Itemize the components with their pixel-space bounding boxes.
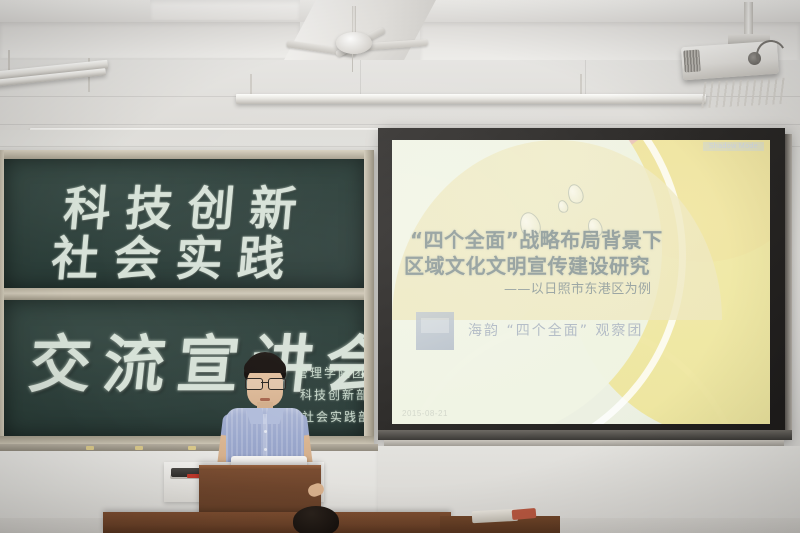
slide-subtitle: ——以日照市东港区为例: [504, 278, 651, 297]
glasses-lens-left: [245, 378, 263, 390]
audience-member-head: [293, 506, 339, 533]
ceiling-coffer: [0, 22, 300, 58]
projection-screen-frame: Shadow Mode “四个全面”战略布局背景下 区域文化文明宣传建设研究 —…: [378, 128, 785, 438]
classroom-photo: 科技创新 社会实践 交流宣讲会 管理学院团委 科技创新部 社会实践部: [0, 0, 800, 533]
slide-team-logo: [416, 312, 454, 350]
slide-title-line-1: “四个全面”战略布局背景下: [410, 228, 663, 253]
glasses-icon: [245, 378, 285, 388]
projection-screen-bottom-bar: [378, 430, 792, 440]
ceiling-seam: [360, 60, 361, 96]
chalk-piece: [135, 446, 143, 450]
projection-screen[interactable]: Shadow Mode “四个全面”战略布局背景下 区域文化文明宣传建设研究 —…: [392, 140, 770, 424]
blackboard-credit-line-3: 社会实践部: [302, 408, 364, 425]
classroom-blackboard: 科技创新 社会实践 交流宣讲会 管理学院团委 科技创新部 社会实践部: [0, 150, 374, 444]
ceiling-seam: [0, 124, 800, 125]
slide-team-logo-inner: [421, 318, 449, 333]
presenter-mouth: [260, 398, 270, 401]
chalk-piece: [86, 446, 94, 450]
shirt-button: [264, 448, 267, 451]
light-hanger-rod: [8, 50, 10, 72]
ceiling-conduit: [699, 78, 786, 108]
light-hanger-rod: [250, 74, 252, 96]
projector-mount-pole: [744, 2, 753, 36]
chalk-piece: [188, 446, 196, 450]
ceiling-fan-hub: [336, 32, 372, 54]
ceiling-fan-pull-chain: [352, 54, 353, 72]
foreground-desk: [103, 512, 451, 533]
desk-object: [512, 508, 537, 520]
ceiling-seam: [585, 60, 586, 96]
shirt-button: [264, 430, 267, 433]
blackboard-line-2: 社会实践: [49, 220, 303, 288]
slide-date: 2015-08-21: [402, 409, 448, 418]
blackboard-frame-left: [0, 150, 4, 444]
glasses-lens-right: [268, 378, 286, 390]
fluorescent-light: [236, 94, 706, 104]
projector-vent: [683, 49, 700, 72]
light-hanger-rod: [580, 74, 582, 94]
slide-title-line-2: 区域文化文明宣传建设研究: [404, 254, 650, 279]
ceiling-fan-rod: [352, 6, 356, 34]
blackboard-divider: [0, 288, 374, 300]
ceiling-coffer: [150, 0, 300, 20]
ceiling: [0, 0, 800, 138]
glasses-bridge: [261, 382, 268, 383]
presenter-hair-fringe: [244, 360, 286, 373]
blackboard-frame-top: [0, 150, 374, 159]
slide-watermark-badge: Shadow Mode: [703, 142, 764, 151]
slide-team-name: 海韵 “四个全面” 观察团: [468, 320, 643, 340]
blackboard-upper-panel: 科技创新 社会实践: [4, 158, 364, 288]
blackboard-frame-right: [364, 150, 374, 444]
